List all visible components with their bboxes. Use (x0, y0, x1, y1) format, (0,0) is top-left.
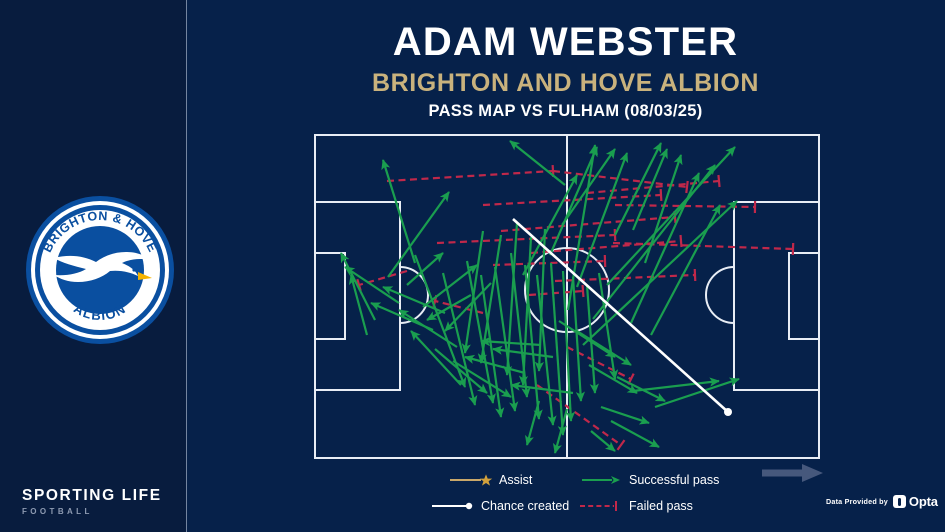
legend-label-successful-pass: Successful pass (629, 473, 719, 487)
pass-map-graphic: BRIGHTON & HOVE ALBION SPORTING LIFE FOO… (0, 0, 945, 532)
pass-failed-pass (387, 165, 553, 181)
assist-marker-icon (448, 473, 496, 487)
pass-map-svg (315, 135, 819, 458)
club-crest: BRIGHTON & HOVE ALBION (26, 196, 174, 344)
svg-text:ALBION: ALBION (71, 301, 129, 324)
successful-pass-marker-icon (578, 473, 626, 487)
pass-successful-pass (573, 277, 581, 401)
sporting-life-wordmark: SPORTING LIFE (22, 487, 172, 504)
chart-subtitle: PASS MAP VS FULHAM (08/03/25) (186, 101, 945, 121)
pass-successful-pass (551, 263, 563, 435)
legend-item-chance-created: Chance created (430, 496, 569, 516)
right-six-yard-box (789, 253, 819, 339)
pass-successful-pass (435, 349, 487, 393)
sporting-life-subtitle: FOOTBALL (22, 507, 172, 516)
left-six-yard-box (315, 253, 345, 339)
legend: Assist Successful pass Chance created Fa… (430, 470, 760, 520)
pass-successful-pass (511, 385, 573, 393)
legend-label-chance-created: Chance created (481, 499, 569, 513)
pass-successful-pass (607, 147, 735, 285)
legend-label-failed-pass: Failed pass (629, 499, 693, 513)
pass-successful-pass (510, 141, 565, 185)
page-title: ADAM WEBSTER (186, 20, 945, 64)
right-penalty-arc (706, 267, 734, 323)
legend-item-successful-pass: Successful pass (578, 470, 719, 490)
legend-item-assist: Assist (448, 470, 532, 490)
opta-attribution: Data Provided by Opta (826, 494, 938, 509)
crest-top-text: BRIGHTON & HOVE (40, 209, 160, 255)
legend-item-failed-pass: Failed pass (578, 496, 693, 516)
pass-successful-pass (601, 407, 649, 423)
pass-successful-pass (591, 431, 615, 451)
pass-successful-pass (651, 205, 720, 335)
right-penalty-area (734, 202, 819, 390)
team-name: BRIGHTON AND HOVE ALBION (186, 69, 945, 97)
direction-of-play-arrow-icon (762, 463, 824, 483)
pass-chance-created (513, 219, 732, 416)
pitch-chart (315, 135, 819, 458)
legend-label-assist: Assist (499, 473, 532, 487)
failed-pass-marker-icon (578, 499, 626, 513)
pass-successful-pass (527, 401, 539, 445)
pass-failed-pass (501, 211, 675, 231)
opta-wordmark: Opta (909, 494, 938, 509)
crest-bottom-text: ALBION (71, 301, 129, 324)
sporting-life-logo: SPORTING LIFE FOOTBALL (22, 487, 172, 516)
svg-text:BRIGHTON & HOVE: BRIGHTON & HOVE (40, 209, 160, 255)
pass-successful-pass (577, 331, 631, 365)
pass-successful-pass (341, 253, 375, 320)
pass-successful-pass (611, 421, 659, 447)
chance-created-marker-icon (430, 499, 478, 513)
opta-attribution-text: Data Provided by (826, 497, 888, 506)
pass-successful-pass (523, 175, 577, 275)
seagull-icon (54, 252, 152, 282)
crest-artwork: BRIGHTON & HOVE ALBION (26, 196, 174, 344)
opta-logo-icon (893, 495, 906, 508)
